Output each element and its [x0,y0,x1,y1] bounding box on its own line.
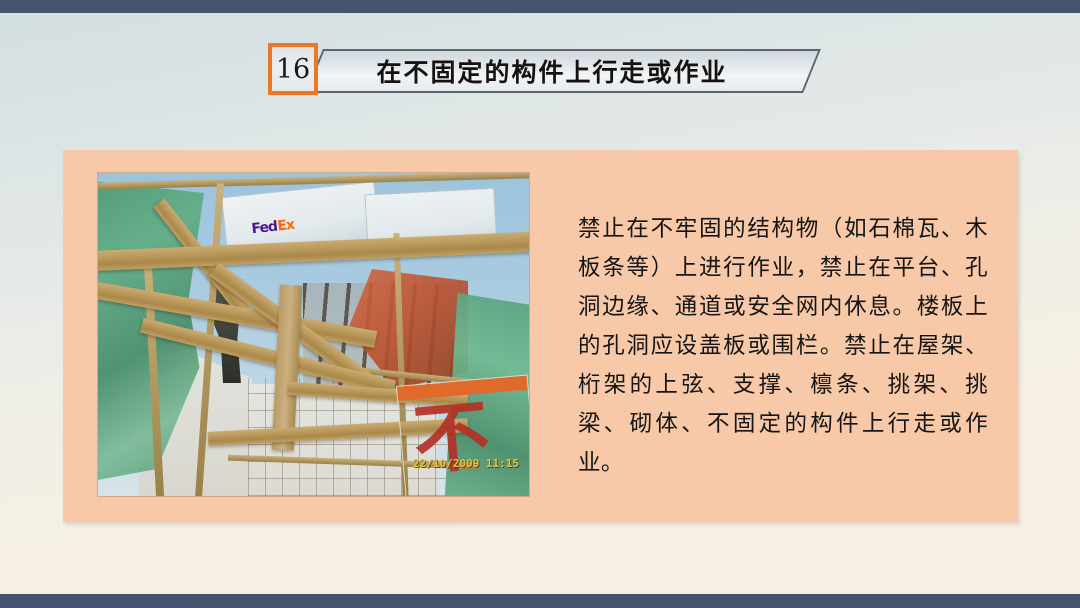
bottom-letterbox-bar [0,594,1080,608]
section-number-label: 16 [276,56,310,83]
page-title: 在不固定的构件上行走或作业 [376,53,749,89]
fedex-logo-accent: Ex [277,217,295,235]
photo-warning-sign: 不 [396,374,530,497]
body-paragraph: 禁止在不牢固的结构物（如石棉瓦、木板条等）上进行作业，禁止在平台、孔洞边缘、通道… [578,210,988,483]
photo-timestamp: 22/10/2009 11:15 [413,457,519,470]
title-banner-text-wrap: 在不固定的构件上行走或作业 [314,49,812,93]
section-number-badge: 16 [268,43,318,95]
fedex-logo-text: Fed [251,219,278,238]
top-letterbox-bar [0,0,1080,13]
slide-header: 在不固定的构件上行走或作业 16 [268,43,812,97]
worksite-photo: Fed Ex 不 22/10/2009 11:15 [97,172,530,497]
content-panel: Fed Ex 不 22/10/2009 11:15 [63,150,1018,522]
slide-root: 在不固定的构件上行走或作业 16 Fed Ex [0,0,1080,608]
